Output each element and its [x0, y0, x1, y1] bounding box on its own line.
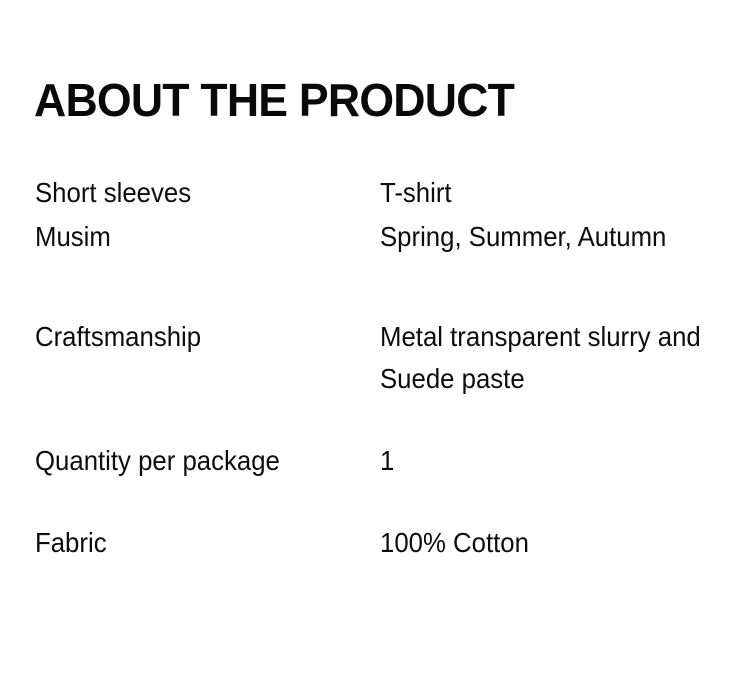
- product-spec-table: Short sleeves T-shirt Musim Spring, Summ…: [35, 172, 715, 564]
- spec-value-line: 100% Cotton: [380, 522, 688, 564]
- spec-value-line: Suede paste: [380, 358, 701, 400]
- table-row: Fabric 100% Cotton: [35, 522, 715, 564]
- spec-value-line: 1: [380, 440, 688, 482]
- spec-value-line: Metal transparent slurry and: [380, 316, 701, 358]
- spec-value-line: Spring, Summer, Autumn: [380, 216, 688, 258]
- spec-value-fabric: 100% Cotton: [380, 522, 688, 564]
- table-row: Musim Spring, Summer, Autumn: [35, 216, 715, 258]
- spec-value-craftsmanship: Metal transparent slurry and Suede paste: [380, 316, 701, 400]
- spec-value-short-sleeves: T-shirt: [380, 172, 688, 214]
- spec-value-musim: Spring, Summer, Autumn: [380, 216, 688, 258]
- table-row: Quantity per package 1: [35, 440, 715, 482]
- spec-value-quantity-per-package: 1: [380, 440, 688, 482]
- spec-value-line: T-shirt: [380, 172, 688, 214]
- spec-label-short-sleeves: Short sleeves: [35, 172, 352, 214]
- table-row: Short sleeves T-shirt: [35, 172, 715, 214]
- spec-label-craftsmanship: Craftsmanship: [35, 316, 352, 358]
- spec-label-fabric: Fabric: [35, 522, 352, 564]
- about-the-product-panel: ABOUT THE PRODUCT Short sleeves T-shirt …: [0, 0, 750, 675]
- spec-label-musim: Musim: [35, 216, 352, 258]
- spec-label-quantity-per-package: Quantity per package: [35, 440, 352, 482]
- table-row: Craftsmanship Metal transparent slurry a…: [35, 316, 715, 400]
- page-title: ABOUT THE PRODUCT: [34, 75, 514, 125]
